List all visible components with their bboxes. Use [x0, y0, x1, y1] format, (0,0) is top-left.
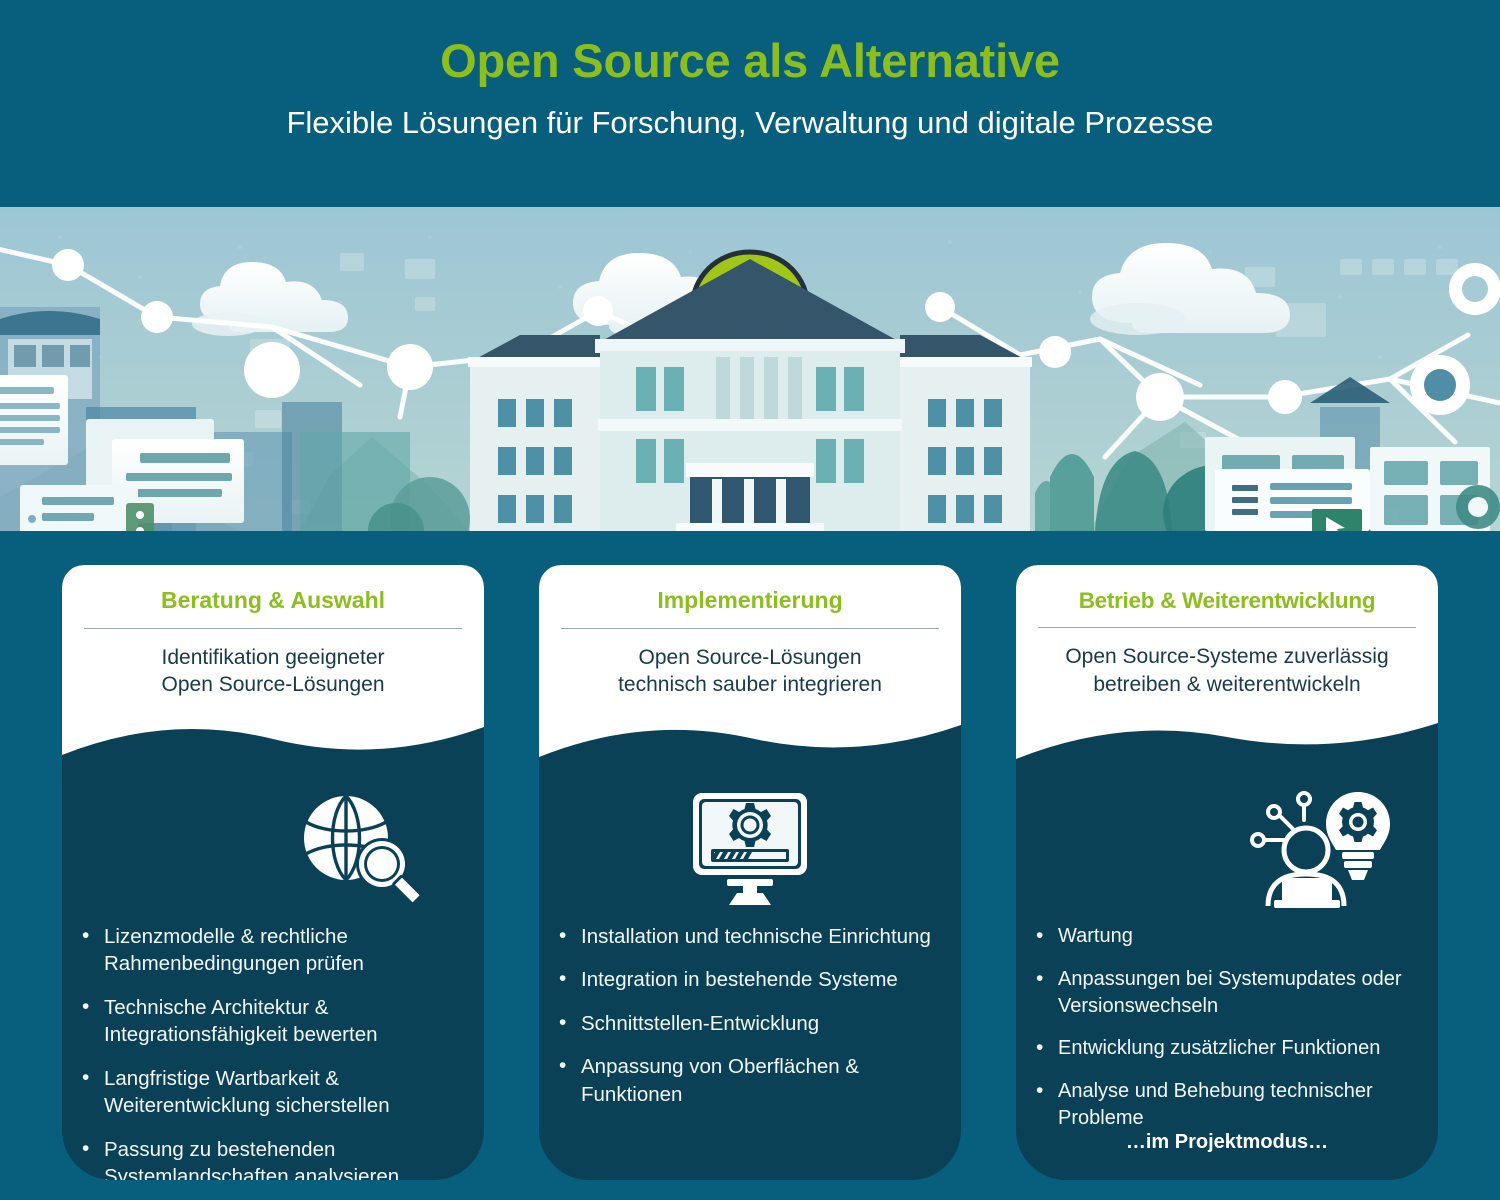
- card-subtitle-line2: Open Source-Lösungen: [80, 671, 466, 699]
- card-header: Beratung & Auswahl Identifikation geeign…: [62, 565, 484, 699]
- monitor-gear-progress-icon: [539, 773, 961, 923]
- card-beratung-auswahl[interactable]: Beratung & Auswahl Identifikation geeign…: [62, 565, 484, 1180]
- card-divider: [84, 628, 462, 629]
- page-subtitle: Flexible Lösungen für Forschung, Verwalt…: [0, 104, 1500, 141]
- list-item: Schnittstellen-Entwicklung: [551, 1010, 935, 1037]
- card-bullet-list: Lizenzmodelle & rechtliche Rahmenbedingu…: [62, 923, 484, 1180]
- card-subtitle-line1: Open Source-Systeme zuverlässig: [1034, 643, 1420, 671]
- list-item: Anpassung von Oberflächen & Funktionen: [551, 1053, 935, 1108]
- list-item: Installation und technische Einrichtung: [551, 923, 935, 950]
- card-subtitle-line2: betreiben & weiterentwickeln: [1034, 671, 1420, 699]
- card-divider: [1038, 627, 1416, 628]
- card-implementierung[interactable]: Implementierung Open Source-Lösungen tec…: [539, 565, 961, 1180]
- card-wave-divider: [62, 705, 484, 775]
- cards-row: Beratung & Auswahl Identifikation geeign…: [0, 531, 1500, 1200]
- header: Open Source als Alternative Flexible Lös…: [0, 0, 1500, 207]
- list-item: Lizenzmodelle & rechtliche Rahmenbedingu…: [74, 923, 458, 978]
- list-item: Anpassungen bei Systemupdates oder Versi…: [1028, 966, 1412, 1020]
- card-header: Implementierung Open Source-Lösungen tec…: [539, 565, 961, 699]
- list-item: Technische Architektur & Integrationsfäh…: [74, 994, 458, 1049]
- card-title: Implementierung: [557, 587, 943, 615]
- infographic-page: Open Source als Alternative Flexible Lös…: [0, 0, 1500, 1200]
- globe-magnifier-icon: [62, 773, 484, 923]
- card-subtitle: Identifikation geeigneter Open Source-Lö…: [80, 644, 466, 699]
- card-divider: [561, 628, 939, 629]
- card-subtitle-line2: technisch sauber integrieren: [557, 671, 943, 699]
- list-item: Analyse und Behebung technischer Problem…: [1028, 1078, 1412, 1132]
- person-laptop-lightbulb-gear-icon: [1016, 773, 1438, 923]
- card-bullet-list: Installation und technische Einrichtung …: [539, 923, 961, 1124]
- card-footer-note: …im Projektmodus…: [1016, 1131, 1438, 1154]
- card-subtitle-line1: Open Source-Lösungen: [557, 644, 943, 672]
- list-item: Passung zu bestehenden Systemlandschafte…: [74, 1136, 458, 1180]
- card-title: Betrieb & Weiterentwicklung: [1034, 587, 1420, 614]
- card-subtitle: Open Source-Systeme zuverlässig betreibe…: [1034, 643, 1420, 698]
- card-subtitle: Open Source-Lösungen technisch sauber in…: [557, 644, 943, 699]
- card-header: Betrieb & Weiterentwicklung Open Source-…: [1016, 565, 1438, 698]
- list-item: Entwicklung zusätzlicher Funktionen: [1028, 1035, 1412, 1062]
- card-title: Beratung & Auswahl: [80, 587, 466, 615]
- card-subtitle-line1: Identifikation geeigneter: [80, 644, 466, 672]
- card-wave-divider: [1016, 705, 1438, 775]
- card-wave-divider: [539, 705, 961, 775]
- list-item: Wartung: [1028, 923, 1412, 950]
- list-item: Integration in bestehende Systeme: [551, 966, 935, 993]
- card-betrieb-weiterentwicklung[interactable]: Betrieb & Weiterentwicklung Open Source-…: [1016, 565, 1438, 1180]
- illustration-band: [0, 207, 1500, 531]
- card-bullet-list: Wartung Anpassungen bei Systemupdates od…: [1016, 923, 1438, 1148]
- page-title: Open Source als Alternative: [0, 34, 1500, 88]
- list-item: Langfristige Wartbarkeit & Weiterentwick…: [74, 1065, 458, 1120]
